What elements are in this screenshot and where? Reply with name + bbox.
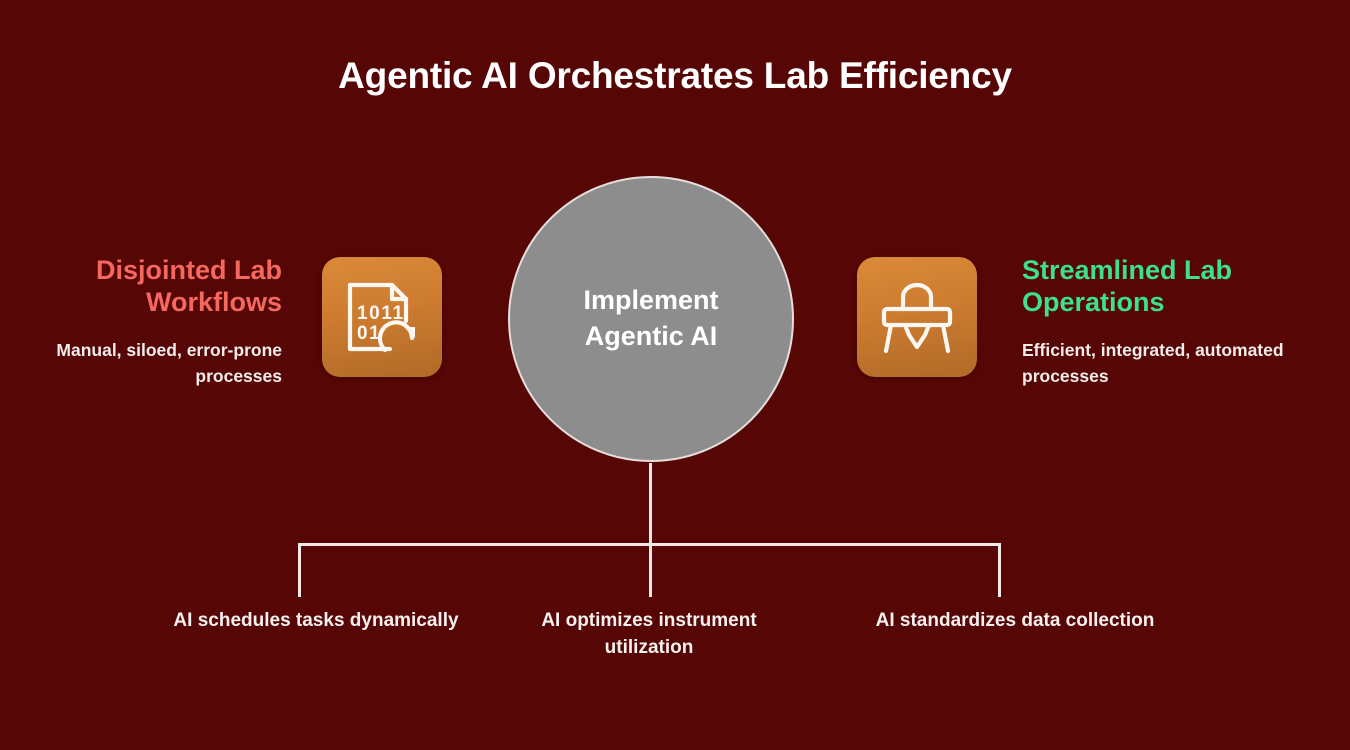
- connector-stem-vertical: [649, 463, 652, 545]
- document-binary-refresh-icon: 1011 01: [340, 275, 424, 359]
- outcome-label-0: AI schedules tasks dynamically: [171, 608, 461, 635]
- connector-drop-left: [298, 543, 301, 597]
- right-state-heading: Streamlined Lab Operations: [1022, 255, 1284, 318]
- left-state-heading: Disjointed Lab Workflows: [20, 255, 282, 318]
- right-state-description: Efficient, integrated, automated process…: [1022, 338, 1284, 389]
- left-state-description: Manual, siloed, error-prone processes: [20, 338, 282, 389]
- svg-text:01: 01: [357, 323, 381, 344]
- center-node-implement-agentic-ai[interactable]: Implement Agentic AI: [508, 176, 794, 462]
- page-title: Agentic AI Orchestrates Lab Efficiency: [0, 55, 1350, 97]
- outcome-label-2: AI standardizes data collection: [870, 608, 1160, 635]
- connector-drop-right: [998, 543, 1001, 597]
- slide-canvas: Agentic AI Orchestrates Lab Efficiency D…: [0, 0, 1350, 750]
- left-state-block: Disjointed Lab Workflows Manual, siloed,…: [20, 255, 282, 389]
- connector-drop-middle: [649, 543, 652, 597]
- lab-workstation-icon-tile[interactable]: [857, 257, 977, 377]
- lab-workstation-icon: [875, 275, 959, 359]
- right-state-block: Streamlined Lab Operations Efficient, in…: [1022, 255, 1284, 389]
- outcome-label-1: AI optimizes instrument utilization: [504, 608, 794, 662]
- document-binary-refresh-icon-tile[interactable]: 1011 01: [322, 257, 442, 377]
- center-node-label: Implement Agentic AI: [583, 283, 718, 355]
